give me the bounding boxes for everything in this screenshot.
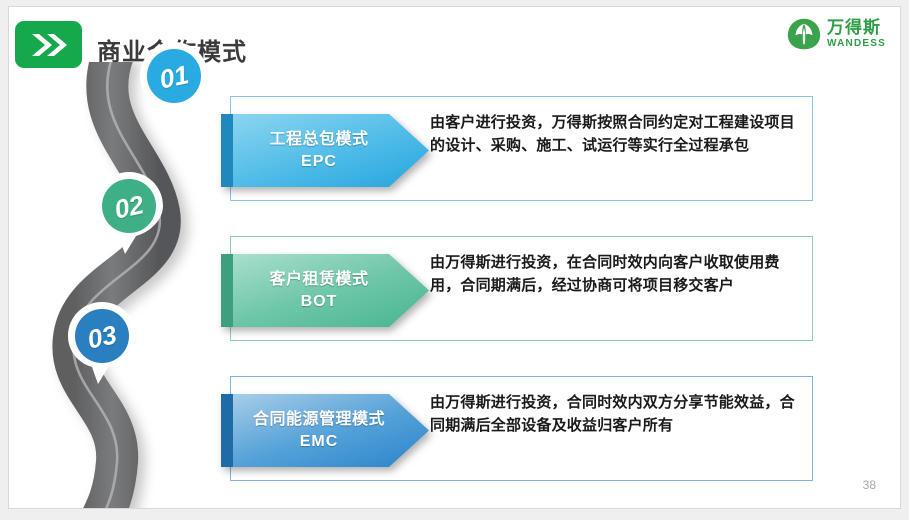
mode-title-en: BOT	[269, 291, 368, 313]
mode-description: 由万得斯进行投资，合同时效内双方分享节能效益，合同期满后全部设备及收益归客户所有	[430, 391, 808, 438]
mode-row-epc: 工程总包模式 EPC 由客户进行投资，万得斯按照合同约定对工程建设项目的设计、采…	[230, 96, 813, 201]
mode-banner-label: 合同能源管理模式 EMC	[253, 409, 397, 452]
step-number: 03	[58, 293, 146, 381]
mode-title-en: EMC	[253, 431, 385, 453]
slide-canvas: 商业合作模式 万得斯 WANDESS	[8, 6, 901, 509]
double-chevron-right-icon	[15, 21, 82, 68]
mode-banner-emc: 合同能源管理模式 EMC	[221, 394, 429, 467]
mode-banner-bot: 客户租赁模式 BOT	[221, 254, 429, 327]
mode-banner-label: 工程总包模式 EPC	[269, 129, 380, 172]
mode-banner-epc: 工程总包模式 EPC	[221, 114, 429, 187]
step-number: 01	[130, 33, 218, 121]
step-badge-02: 02	[92, 170, 166, 258]
step-badge-03: 03	[65, 300, 139, 388]
mode-row-bot: 客户租赁模式 BOT 由万得斯进行投资，在合同时效内向客户收取使用费用，合同期满…	[230, 236, 813, 341]
logo-name-en: WANDESS	[827, 39, 886, 49]
mode-title-cn: 工程总包模式	[269, 129, 368, 151]
logo-name-cn: 万得斯	[827, 19, 886, 36]
mode-description: 由万得斯进行投资，在合同时效内向客户收取使用费用，合同期满后，经过协商可将项目移…	[430, 251, 808, 298]
page-number: 38	[863, 478, 876, 492]
mode-title-cn: 客户租赁模式	[269, 269, 368, 291]
mode-row-emc: 合同能源管理模式 EMC 由万得斯进行投资，合同时效内双方分享节能效益，合同期满…	[230, 376, 813, 481]
leaf-plant-icon	[787, 17, 821, 51]
mode-banner-label: 客户租赁模式 BOT	[269, 269, 380, 312]
mode-description: 由客户进行投资，万得斯按照合同约定对工程建设项目的设计、采购、施工、试运行等实行…	[430, 111, 808, 158]
step-number: 02	[85, 163, 173, 251]
mode-title-en: EPC	[269, 151, 368, 173]
step-badge-01: 01	[137, 40, 211, 128]
mode-title-cn: 合同能源管理模式	[253, 409, 385, 431]
winding-road-graphic	[9, 62, 239, 509]
brand-logo: 万得斯 WANDESS	[787, 17, 886, 51]
